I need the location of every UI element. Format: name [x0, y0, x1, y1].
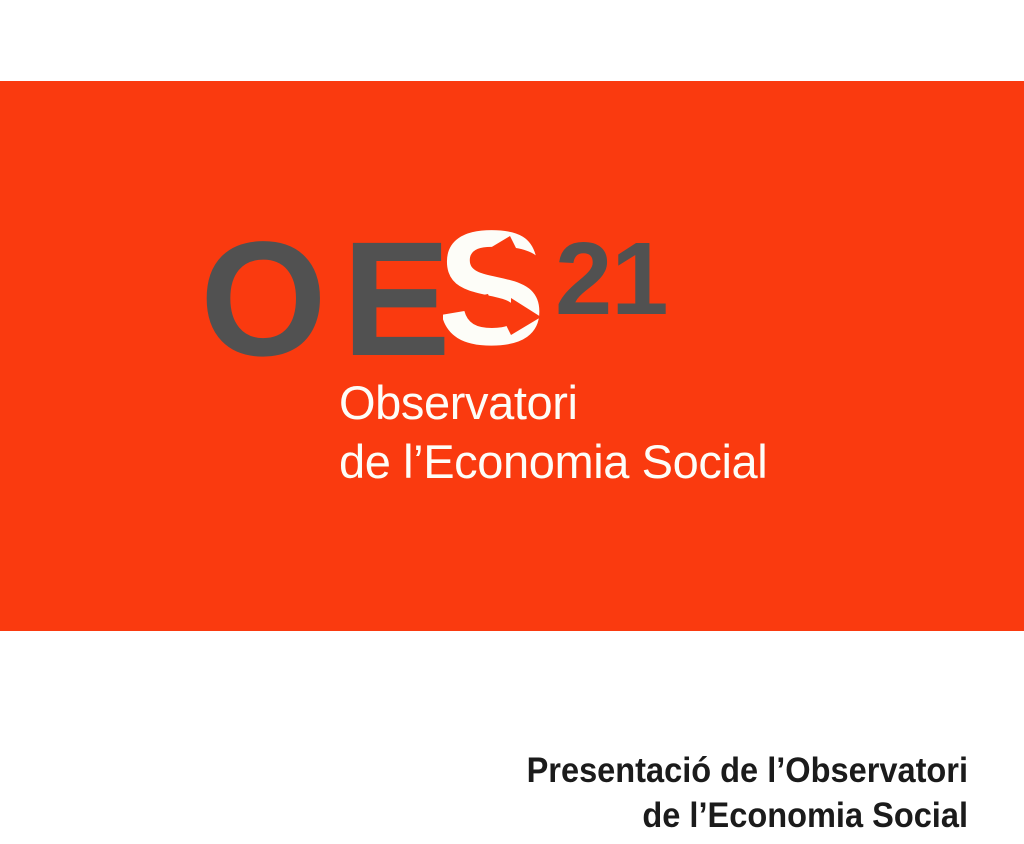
slide-caption: Presentació de l’Observatori de l’Econom… — [373, 748, 968, 838]
logo-wordmark: O E S — [200, 225, 700, 365]
presentation-slide: O E S — [0, 0, 1024, 844]
logo-year-21: 21 — [555, 227, 668, 330]
slide-caption-line-1: Presentació de l’Observatori — [373, 748, 968, 793]
logo-letter-o: O — [200, 217, 325, 380]
logo-subtitle-line-2: de l’Economia Social — [339, 432, 819, 491]
slide-caption-line-2: de l’Economia Social — [373, 793, 968, 838]
logo-letter-e: E — [342, 217, 449, 380]
svg-text:S: S — [443, 211, 544, 366]
logo-subtitle: Observatori de l’Economia Social — [339, 373, 819, 491]
oes21-logo: O E S — [200, 225, 820, 495]
logo-subtitle-line-1: Observatori — [339, 373, 819, 432]
